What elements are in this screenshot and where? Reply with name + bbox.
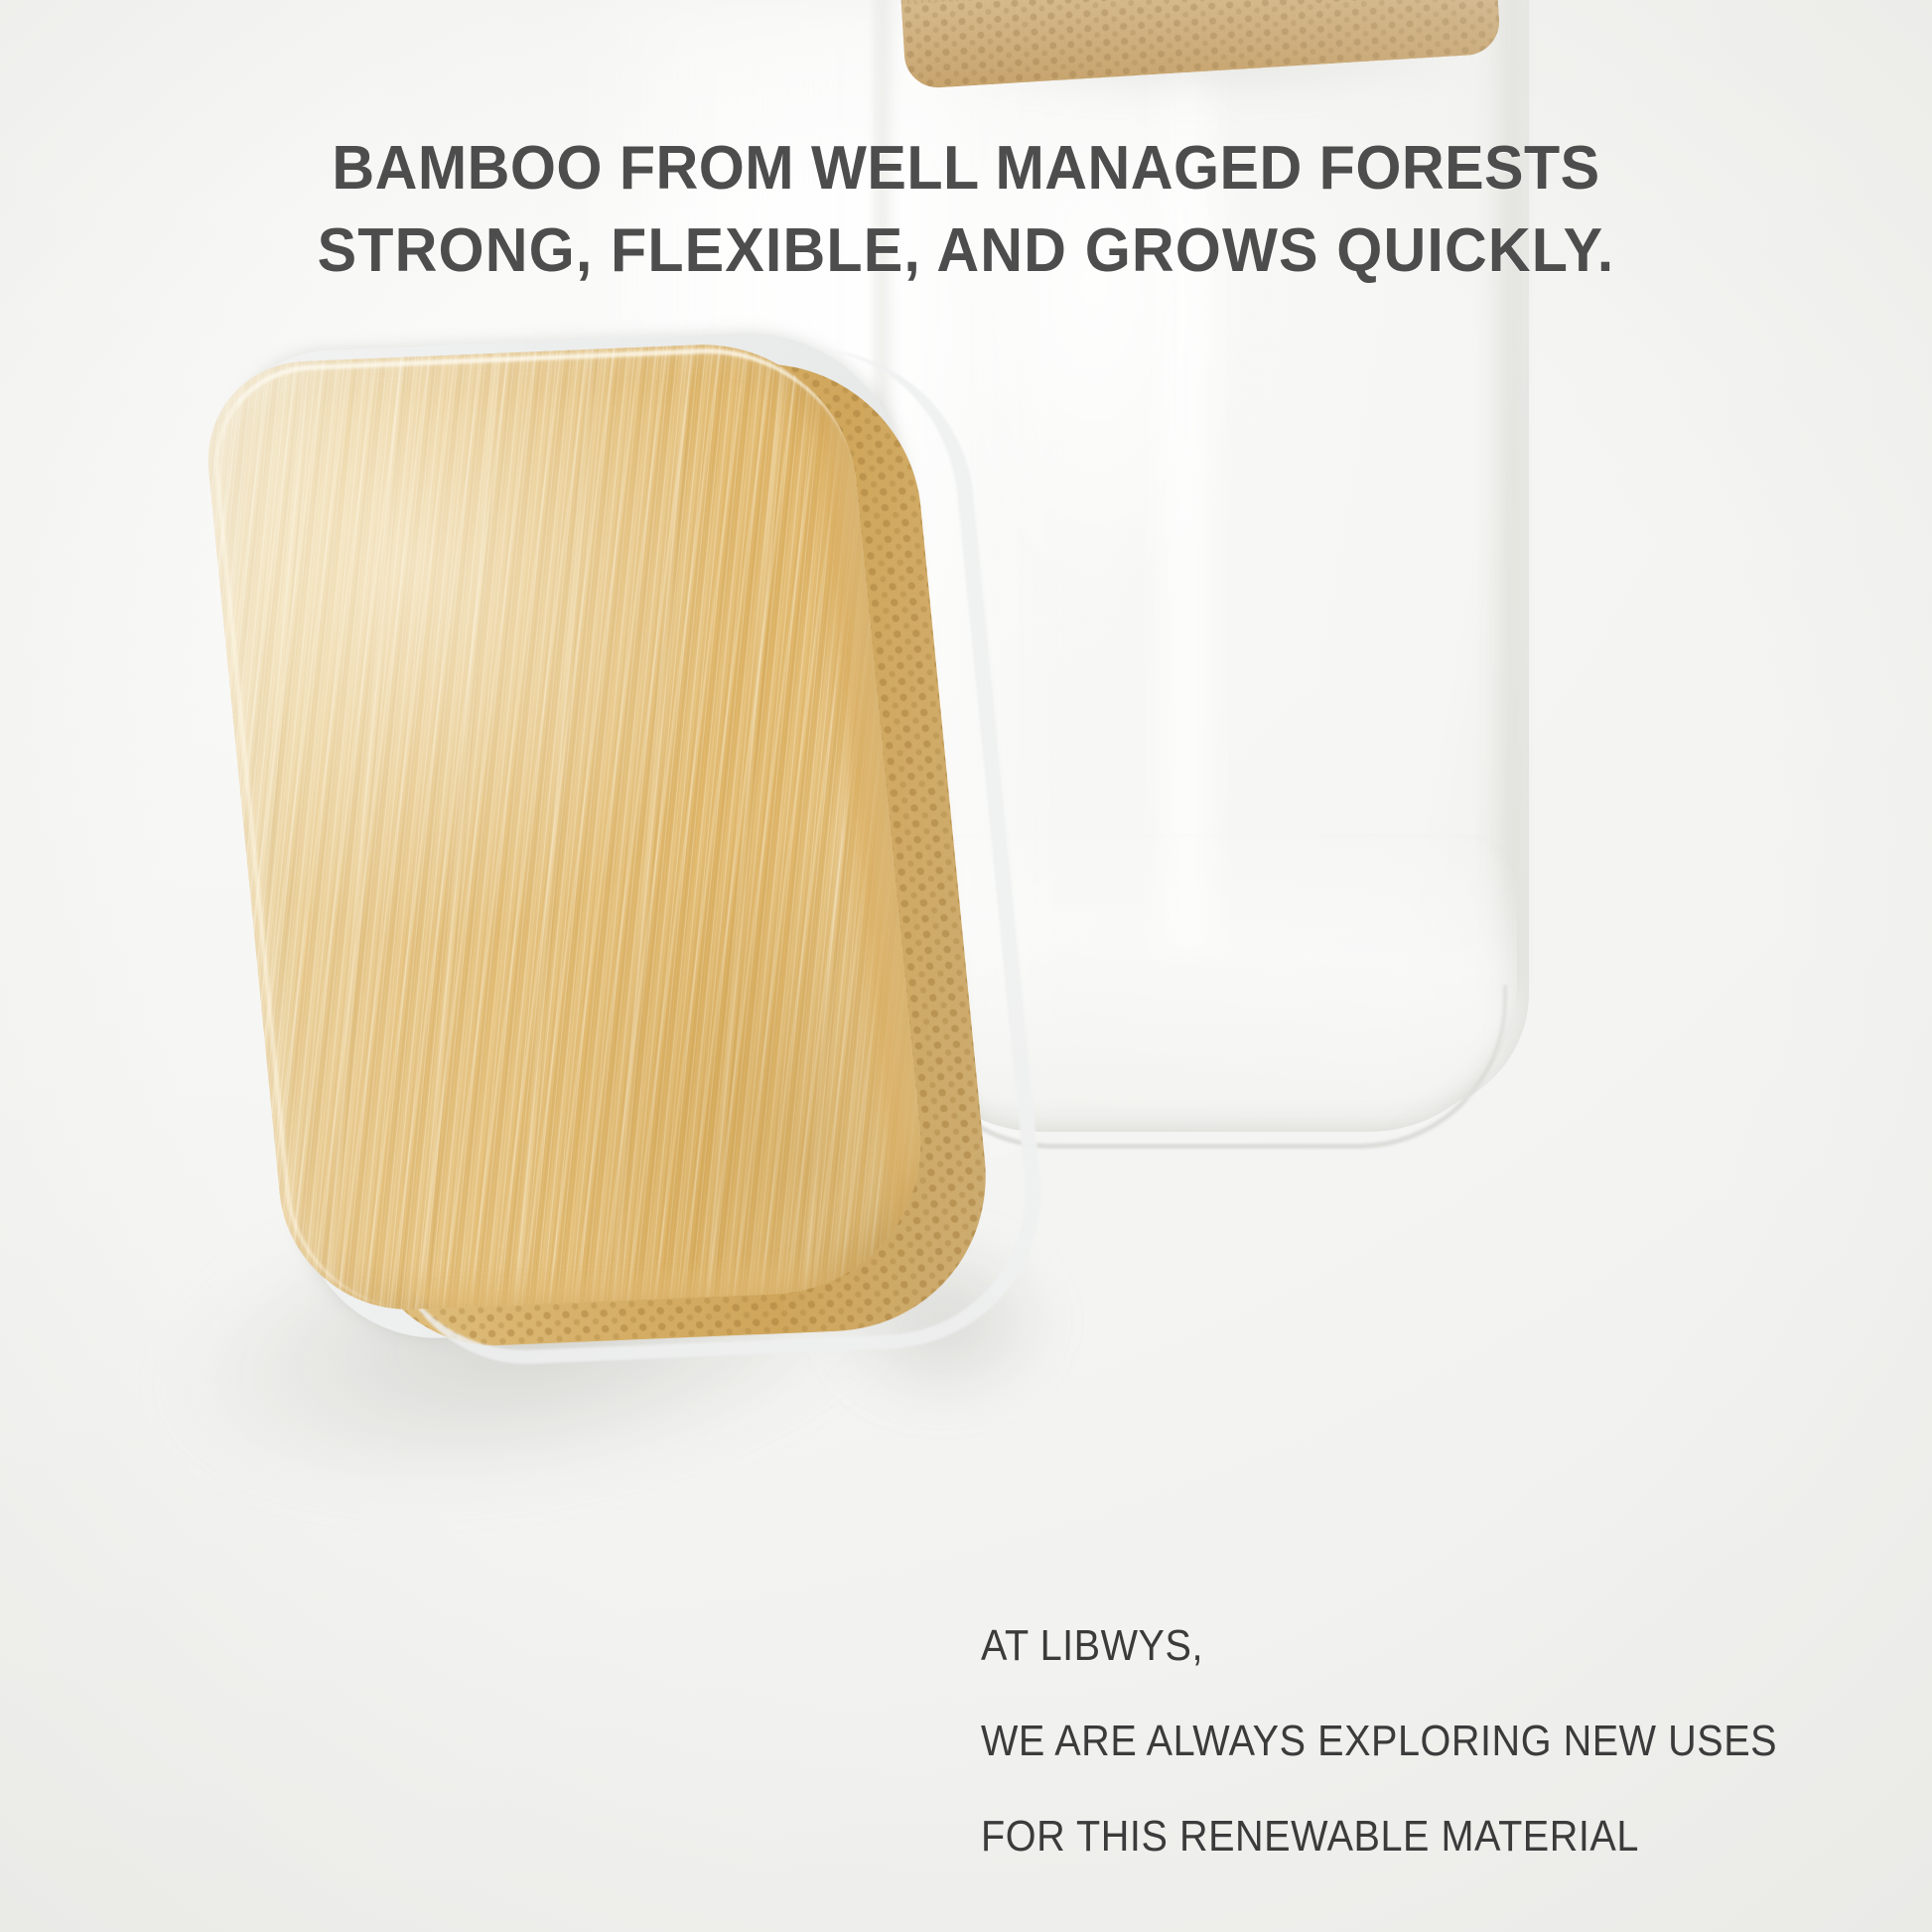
headline-line-1: BAMBOO FROM WELL MANAGED FORESTS — [44, 127, 1888, 209]
headline-line-2: STRONG, FLEXIBLE, AND GROWS QUICKLY. — [44, 209, 1888, 292]
footer-line-1: AT LIBWYS, — [981, 1624, 1777, 1668]
footer-line-3: FOR THIS RENEWABLE MATERIAL — [981, 1815, 1777, 1859]
footer-copy: AT LIBWYS, WE ARE ALWAYS EXPLORING NEW U… — [981, 1624, 1777, 1859]
footer-line-2: WE ARE ALWAYS EXPLORING NEW USES — [981, 1720, 1777, 1763]
product-marketing-image: BAMBOO FROM WELL MANAGED FORESTS STRONG,… — [0, 0, 1932, 1932]
headline: BAMBOO FROM WELL MANAGED FORESTS STRONG,… — [44, 127, 1888, 292]
